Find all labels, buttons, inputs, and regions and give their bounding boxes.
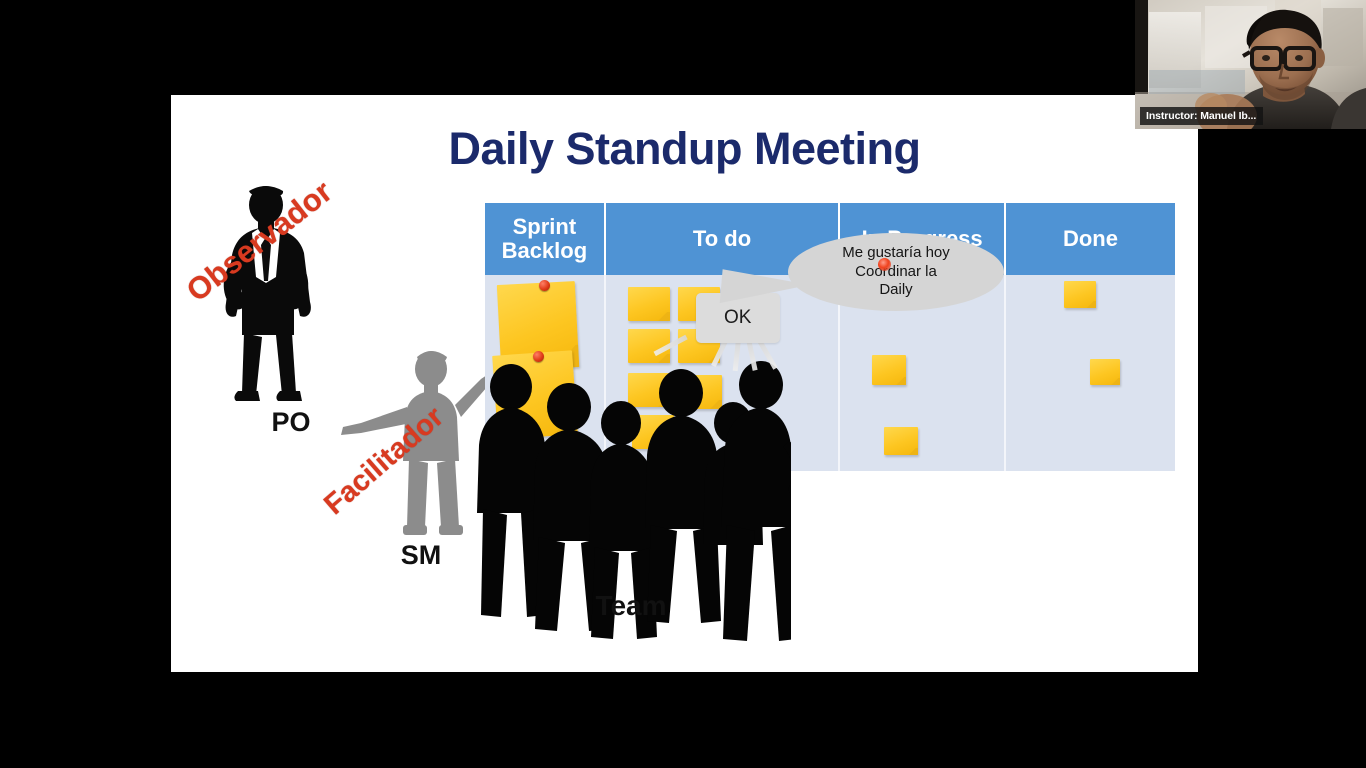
sticky-note[interactable] bbox=[884, 427, 918, 455]
instructor-webcam-video[interactable]: Instructor: Manuel Ib... bbox=[1135, 0, 1366, 129]
column-header-line2: Backlog bbox=[502, 238, 588, 263]
speech-bubble: Me gustaría hoy Coordinar la Daily bbox=[788, 233, 1004, 311]
sticky-note[interactable] bbox=[1064, 281, 1096, 308]
speech-bubble-line1: Me gustaría hoy bbox=[842, 244, 950, 263]
speech-bubble-line2: Coordinar la bbox=[855, 263, 937, 282]
column-header-line1: Sprint bbox=[513, 214, 577, 239]
page-title: Daily Standup Meeting bbox=[171, 123, 1198, 175]
column-header-sprint-backlog: Sprint Backlog bbox=[485, 203, 606, 275]
laser-pointer-dot-icon bbox=[878, 258, 891, 271]
pushpin-icon bbox=[539, 280, 550, 291]
screen-root: Daily Standup Meeting bbox=[0, 0, 1366, 768]
sticky-note[interactable] bbox=[872, 355, 906, 385]
pushpin-icon bbox=[533, 351, 544, 362]
speech-bubble-line3: Daily bbox=[879, 281, 912, 300]
column-done bbox=[1006, 275, 1175, 471]
column-header-done: Done bbox=[1006, 203, 1175, 275]
presentation-slide: Daily Standup Meeting bbox=[171, 95, 1198, 672]
instructor-name-label: Instructor: Manuel Ib... bbox=[1140, 107, 1263, 125]
sticky-note[interactable] bbox=[1090, 359, 1120, 385]
sticky-note[interactable] bbox=[628, 287, 670, 321]
role-label-team: Team bbox=[471, 590, 791, 622]
